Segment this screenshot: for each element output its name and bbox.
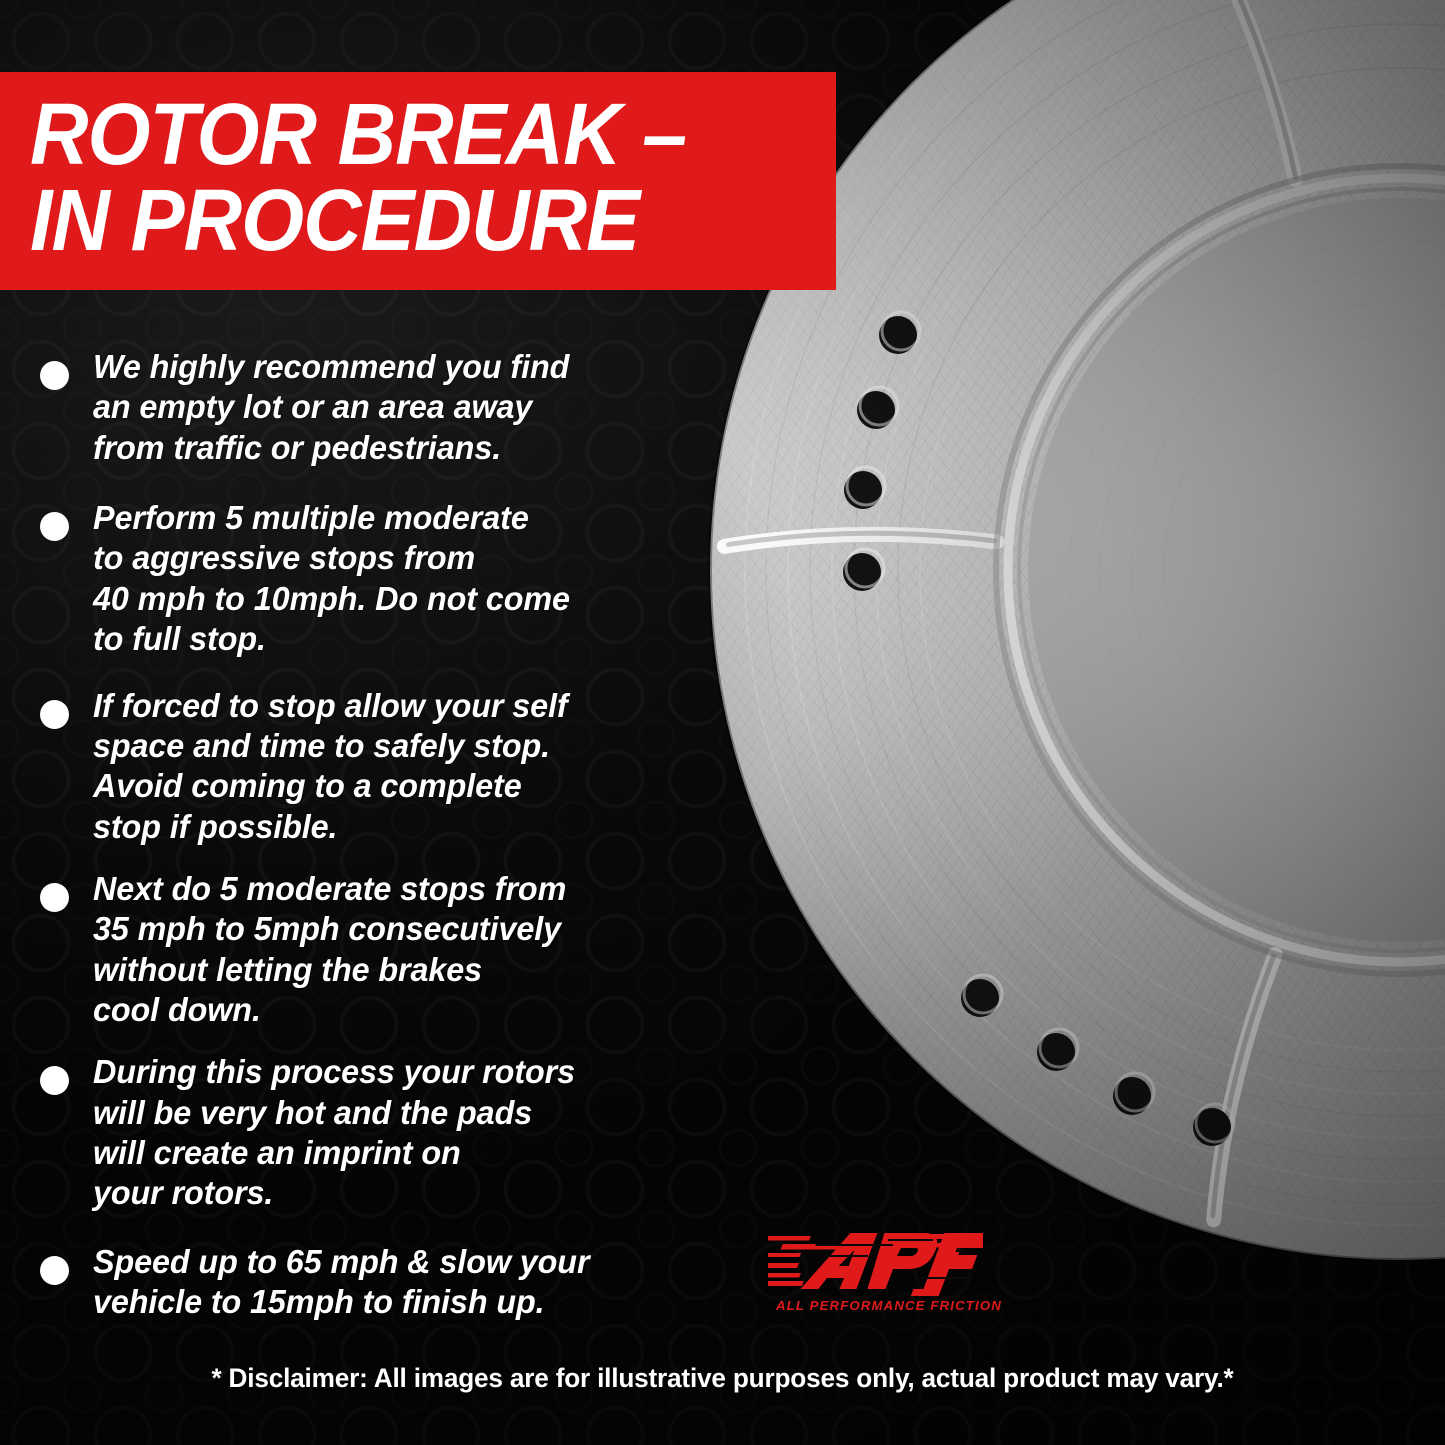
bullet-dot-icon	[40, 361, 69, 390]
list-item: Next do 5 moderate stops from 35 mph to …	[40, 870, 780, 1031]
list-item: If forced to stop allow your self space …	[40, 687, 780, 848]
disclaimer-text: * Disclaimer: All images are for illustr…	[22, 1363, 1424, 1394]
list-item: Speed up to 65 mph & slow your vehicle t…	[40, 1243, 780, 1324]
instruction-list: We highly recommend you find an empty lo…	[40, 348, 780, 1350]
list-item-text: If forced to stop allow your self space …	[93, 687, 568, 848]
apf-wordmark-icon	[768, 1226, 983, 1296]
bullet-dot-icon	[40, 1066, 69, 1095]
promo-graphic: ROTOR BREAK – IN PROCEDURE We highly rec…	[0, 0, 1445, 1445]
bullet-dot-icon	[40, 700, 69, 729]
apf-logo: ALL PERFORMANCE FRICTION	[768, 1226, 983, 1326]
list-item-text: During this process your rotors will be …	[93, 1053, 575, 1214]
list-item-text: Perform 5 multiple moderate to aggressiv…	[93, 499, 570, 660]
title-banner: ROTOR BREAK – IN PROCEDURE	[0, 72, 836, 290]
list-item-text: Next do 5 moderate stops from 35 mph to …	[93, 870, 566, 1031]
page-title-line-1: ROTOR BREAK –	[30, 92, 780, 178]
apf-tagline: ALL PERFORMANCE FRICTION	[776, 1298, 976, 1313]
page-title-line-2: IN PROCEDURE	[30, 178, 780, 264]
list-item: We highly recommend you find an empty lo…	[40, 348, 780, 469]
list-item: During this process your rotors will be …	[40, 1053, 780, 1214]
bullet-dot-icon	[40, 512, 69, 541]
list-item: Perform 5 multiple moderate to aggressiv…	[40, 499, 780, 660]
list-item-text: We highly recommend you find an empty lo…	[93, 348, 569, 469]
list-item-text: Speed up to 65 mph & slow your vehicle t…	[93, 1243, 589, 1324]
bullet-dot-icon	[40, 883, 69, 912]
bullet-dot-icon	[40, 1256, 69, 1285]
